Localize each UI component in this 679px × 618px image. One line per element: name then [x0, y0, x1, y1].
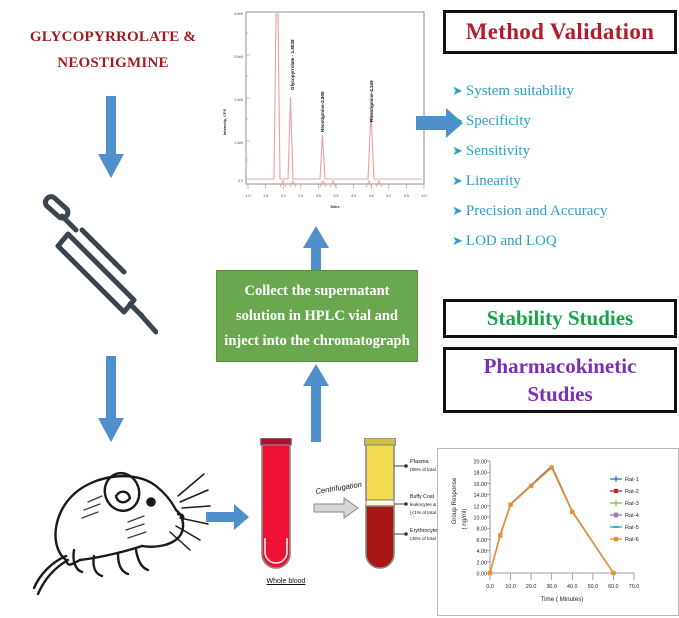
svg-text:8.00: 8.00	[477, 527, 488, 533]
centrifugation-arrow	[314, 498, 358, 518]
validation-item-sensitivity[interactable]: ➤Sensitivity	[452, 136, 674, 166]
validation-item-label: Precision and Accuracy	[466, 203, 608, 219]
validation-item-lod-loq[interactable]: ➤LOD and LOQ	[452, 226, 674, 256]
validation-item-system-suitability[interactable]: ➤System suitability	[452, 76, 674, 106]
drug-title-line2: NEOSTIGMINE	[8, 50, 218, 76]
stability-studies-title: Stability Studies	[487, 306, 633, 331]
rat-illustration	[32, 452, 212, 600]
centrifugation-label: Centrifugation	[315, 480, 363, 496]
chrom-ytick-2: 2.0e5	[234, 98, 243, 102]
process-line2: solution in HPLC vial and	[224, 304, 409, 329]
svg-text:6.0: 6.0	[422, 194, 427, 198]
svg-text:2.0: 2.0	[281, 194, 286, 198]
svg-text:5.5: 5.5	[404, 194, 409, 198]
buffy-coat-detail: (<1% of total blood)	[410, 510, 438, 515]
svg-text:18.00: 18.00	[474, 471, 488, 477]
method-validation-box: Method Validation	[443, 10, 677, 54]
chrom-ytick-4: 4.0e5	[234, 12, 243, 16]
pk-title-line1: Pharmacokinetic	[484, 352, 637, 380]
svg-text:6.00: 6.00	[477, 538, 488, 544]
chrom-xlabel: Mins	[330, 204, 340, 209]
pk-xlabel: Time ( Minutes)	[541, 596, 584, 603]
svg-text:3.0: 3.0	[316, 194, 321, 198]
pk-title-line2: Studies	[484, 380, 637, 408]
arrow-rat-to-blood	[206, 502, 250, 532]
svg-text:20.00: 20.00	[474, 460, 488, 466]
svg-text:60.0: 60.0	[608, 584, 619, 590]
validation-item-label: Specificity	[466, 113, 531, 129]
drug-title-line1: GLYCOPYRROLATE &	[8, 24, 218, 50]
buffy-coat-label: Buffy Coat	[410, 494, 435, 500]
svg-text:3.5: 3.5	[334, 194, 339, 198]
svg-text:30.0: 30.0	[546, 584, 557, 590]
svg-text:20.0: 20.0	[526, 584, 537, 590]
svg-text:4.0: 4.0	[351, 194, 356, 198]
arrow-process-to-chromatogram	[301, 226, 331, 270]
arrow-syringe-to-rat	[96, 356, 126, 446]
peak-label-neostigmine: Neostigmine-2.800	[320, 91, 325, 132]
validation-item-label: System suitability	[466, 83, 574, 99]
peak-label-rivastigmine: Rivastigmine-4.169	[369, 80, 374, 122]
validation-item-precision-accuracy[interactable]: ➤Precision and Accuracy	[452, 196, 674, 226]
chevron-right-icon: ➤	[452, 203, 463, 218]
chevron-right-icon: ➤	[452, 233, 463, 248]
svg-text:10.00: 10.00	[474, 516, 488, 522]
svg-text:50.0: 50.0	[588, 584, 599, 590]
pharmacokinetic-studies-box: Pharmacokinetic Studies	[443, 347, 677, 413]
svg-text:1.5: 1.5	[263, 194, 268, 198]
chrom-ylabel: Intensity, CPS	[222, 108, 227, 135]
separated-blood-tube	[365, 438, 396, 568]
chevron-right-icon: ➤	[452, 143, 463, 158]
svg-text:12.00: 12.00	[474, 504, 488, 510]
stability-studies-box: Stability Studies	[443, 299, 677, 338]
peak-label-glycopyrrolate: Glycopyrrolate - 1.8038	[290, 39, 295, 90]
svg-text:10.0: 10.0	[505, 584, 515, 590]
svg-text:70.0: 70.0	[629, 584, 640, 590]
chrom-ytick-0: 0.0	[238, 179, 243, 183]
erythrocytes-detail: (45% of total blood)	[410, 536, 438, 541]
validation-item-linearity[interactable]: ➤Linearity	[452, 166, 674, 196]
validation-item-label: Linearity	[466, 173, 521, 189]
chrom-ytick-1: 1.0e5	[234, 141, 243, 145]
svg-text:40.0: 40.0	[567, 584, 578, 590]
svg-text:16.00: 16.00	[474, 482, 488, 488]
chevron-right-icon: ➤	[452, 173, 463, 188]
svg-text:Rat-3: Rat-3	[625, 501, 639, 507]
svg-text:0.00: 0.00	[477, 572, 488, 578]
svg-text:2.5: 2.5	[298, 194, 303, 198]
arrow-blood-to-process	[301, 364, 331, 442]
pharmacokinetic-line-chart: 20.00 18.00 16.00 14.00 12.00 10.00 8.00…	[437, 448, 679, 616]
svg-text:4.5: 4.5	[369, 194, 374, 198]
process-line3: inject into the chromatograph	[224, 329, 409, 354]
svg-text:Rat-6: Rat-6	[625, 537, 639, 543]
buffy-coat-detail2: leukocytes & platelets	[410, 502, 438, 507]
erythrocytes-label: Erythrocytes	[410, 528, 438, 534]
svg-text:Rat-2: Rat-2	[625, 489, 639, 495]
whole-blood-tube	[261, 438, 292, 568]
whole-blood-caption: Whole blood	[256, 578, 316, 585]
chevron-right-icon: ➤	[452, 83, 463, 98]
drug-title: GLYCOPYRROLATE & NEOSTIGMINE	[8, 24, 218, 76]
validation-item-label: Sensitivity	[466, 143, 530, 159]
svg-text:2.00: 2.00	[477, 560, 488, 566]
svg-text:0.0: 0.0	[486, 584, 494, 590]
validation-item-label: LOD and LOQ	[466, 233, 557, 249]
chrom-ytick-3: 3.0e5	[234, 55, 243, 59]
arrow-title-to-syringe	[96, 96, 126, 182]
plasma-label: Plasma	[410, 459, 430, 465]
validation-item-specificity[interactable]: ➤Specificity	[452, 106, 674, 136]
pk-ylabel-units: ( ng/ml)	[461, 509, 468, 530]
method-validation-title: Method Validation	[466, 19, 655, 45]
process-line1: Collect the supernatant	[224, 279, 409, 304]
syringe-icon	[38, 190, 158, 340]
pk-ylabel: Group Response	[451, 477, 458, 524]
plasma-detail: (55% of total blood)	[410, 467, 438, 472]
svg-text:1.0: 1.0	[246, 194, 251, 198]
svg-text:Rat-1: Rat-1	[625, 477, 639, 483]
hplc-chromatogram: 4.0e5 3.0e5 2.0e5 1.0e5 0.0 Intensity, C…	[216, 2, 441, 224]
process-step-box: Collect the supernatant solution in HPLC…	[216, 270, 418, 362]
svg-text:5.0: 5.0	[386, 194, 391, 198]
method-validation-list: ➤System suitability ➤Specificity ➤Sensit…	[452, 76, 674, 256]
svg-text:4.00: 4.00	[477, 549, 488, 555]
svg-text:Rat-5: Rat-5	[625, 525, 639, 531]
chevron-right-icon: ➤	[452, 113, 463, 128]
svg-text:Rat-4: Rat-4	[625, 513, 639, 519]
svg-text:14.00: 14.00	[474, 493, 488, 499]
